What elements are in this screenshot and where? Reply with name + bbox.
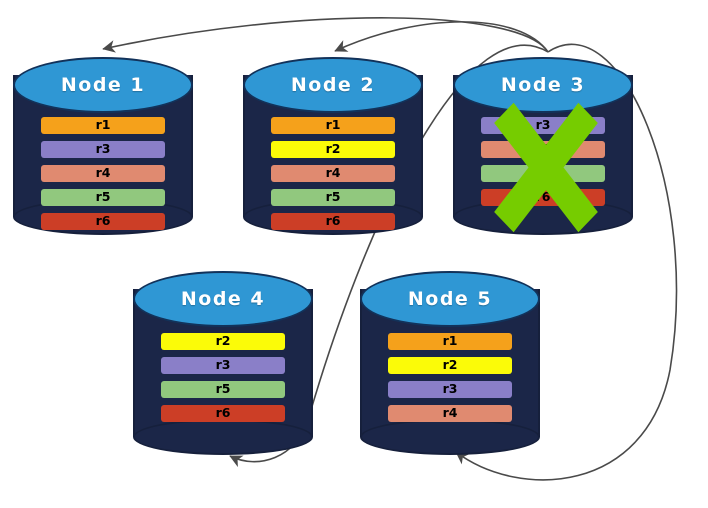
node-2-label: Node 2 — [243, 57, 423, 113]
node-1-record-r1[interactable]: r1 — [41, 117, 165, 134]
node-1-label: Node 1 — [13, 57, 193, 113]
node-5[interactable]: Node 5r1r2r3r4 — [360, 271, 540, 455]
node-2-record-r5[interactable]: r5 — [271, 189, 395, 206]
node-2[interactable]: Node 2r1r2r4r5r6 — [243, 57, 423, 235]
node-4-record-r6[interactable]: r6 — [161, 405, 285, 422]
node-2-records: r1r2r4r5r6 — [243, 117, 423, 237]
node-2-record-r6[interactable]: r6 — [271, 213, 395, 230]
node-3-record-r4[interactable]: r4 — [481, 141, 605, 158]
node-4-label: Node 4 — [133, 271, 313, 327]
arrow-node3-to-node2 — [335, 22, 548, 52]
node-5-label: Node 5 — [360, 271, 540, 327]
node-2-record-r1[interactable]: r1 — [271, 117, 395, 134]
node-1[interactable]: Node 1r1r3r4r5r6 — [13, 57, 193, 235]
node-3-records: r3r4r5r6 — [453, 117, 633, 213]
node-4[interactable]: Node 4r2r3r5r6 — [133, 271, 313, 455]
node-1-record-r3[interactable]: r3 — [41, 141, 165, 158]
node-3[interactable]: Node 3r3r4r5r6 — [453, 57, 633, 235]
node-3-record-r6[interactable]: r6 — [481, 189, 605, 206]
node-2-record-r2[interactable]: r2 — [271, 141, 395, 158]
node-1-records: r1r3r4r5r6 — [13, 117, 193, 237]
node-5-records: r1r2r3r4 — [360, 333, 540, 429]
node-3-record-r5[interactable]: r5 — [481, 165, 605, 182]
node-3-label: Node 3 — [453, 57, 633, 113]
node-1-record-r4[interactable]: r4 — [41, 165, 165, 182]
node-5-record-r4[interactable]: r4 — [388, 405, 512, 422]
node-1-record-r5[interactable]: r5 — [41, 189, 165, 206]
node-2-record-r4[interactable]: r4 — [271, 165, 395, 182]
node-3-record-r3[interactable]: r3 — [481, 117, 605, 134]
replication-diagram-canvas: Node 1r1r3r4r5r6Node 2r1r2r4r5r6Node 3r3… — [0, 0, 708, 508]
node-4-record-r5[interactable]: r5 — [161, 381, 285, 398]
node-4-records: r2r3r5r6 — [133, 333, 313, 429]
arrow-node3-to-node1 — [103, 18, 548, 52]
node-4-record-r2[interactable]: r2 — [161, 333, 285, 350]
node-4-record-r3[interactable]: r3 — [161, 357, 285, 374]
node-5-record-r3[interactable]: r3 — [388, 381, 512, 398]
node-1-record-r6[interactable]: r6 — [41, 213, 165, 230]
node-5-record-r2[interactable]: r2 — [388, 357, 512, 374]
node-5-record-r1[interactable]: r1 — [388, 333, 512, 350]
